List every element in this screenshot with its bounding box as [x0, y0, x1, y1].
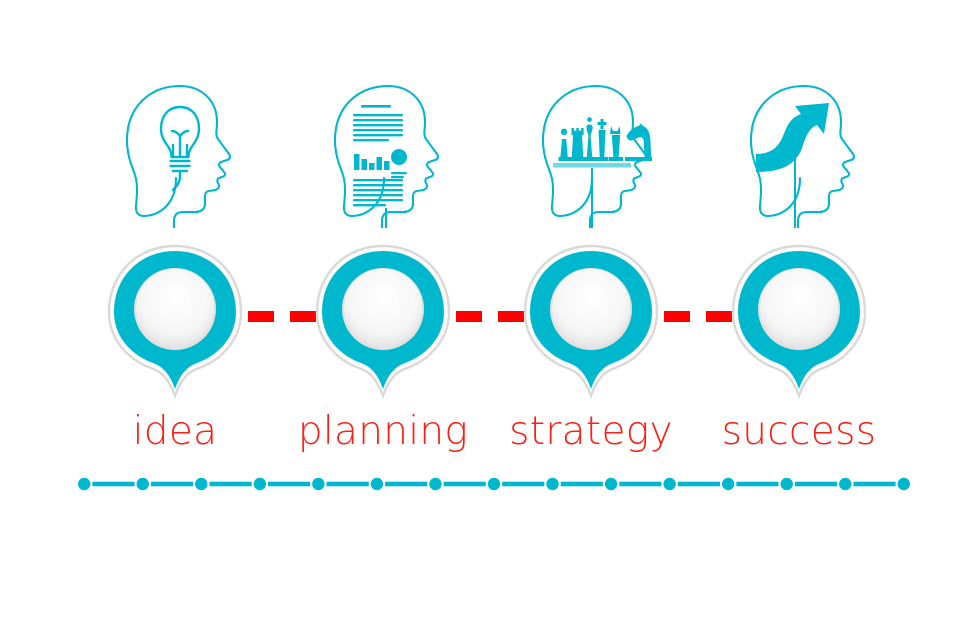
dotted-timeline-rail [78, 476, 910, 492]
rail-segment [151, 482, 193, 487]
head-growth-arrow-icon [729, 78, 879, 228]
map-pin-idea[interactable] [95, 240, 255, 400]
rail-segment [209, 482, 251, 487]
map-pin-strategy[interactable] [511, 240, 671, 400]
document-lines [353, 105, 407, 206]
rail-segment [92, 482, 134, 487]
rail-segment [268, 482, 310, 487]
head-document-chart-icon [313, 78, 463, 228]
head-lightbulb-icon [105, 78, 255, 228]
rail-dot [722, 478, 734, 490]
rail-dot [605, 478, 617, 490]
pins-row [0, 240, 960, 400]
map-pin-success[interactable] [719, 240, 879, 400]
chess-pieces [559, 117, 653, 161]
head-icons-row [0, 78, 960, 228]
rail-dot [663, 478, 675, 490]
rail-segment [795, 482, 837, 487]
rail-dot [898, 478, 910, 490]
rail-segment [385, 482, 427, 487]
rail-segment [502, 482, 544, 487]
rail-segment [561, 482, 603, 487]
head-chess-icon [521, 78, 671, 228]
rail-dot [546, 478, 558, 490]
rail-segment [327, 482, 369, 487]
rail-dot [78, 478, 90, 490]
rail-segment [853, 482, 895, 487]
infographic-canvas: idea planning strategy success [0, 0, 960, 640]
rail-dot [839, 478, 851, 490]
rail-dot [312, 478, 324, 490]
rail-dot [488, 478, 500, 490]
rail-segment [619, 482, 661, 487]
step-label-planning: planning [273, 406, 493, 458]
rail-dot [781, 478, 793, 490]
step-label-idea: idea [65, 406, 285, 458]
rail-dot [137, 478, 149, 490]
rail-dot [254, 478, 266, 490]
step-label-success: success [689, 406, 909, 458]
rail-segment [444, 482, 486, 487]
chess-board-line [553, 163, 631, 168]
step-labels-row: idea planning strategy success [0, 406, 960, 462]
map-pin-planning[interactable] [303, 240, 463, 400]
rail-segment [736, 482, 778, 487]
rail-dot [371, 478, 383, 490]
rail-dot [429, 478, 441, 490]
rail-segment [678, 482, 720, 487]
rail-dot [195, 478, 207, 490]
growth-arrow-shape [756, 103, 829, 172]
step-label-strategy: strategy [481, 406, 701, 458]
